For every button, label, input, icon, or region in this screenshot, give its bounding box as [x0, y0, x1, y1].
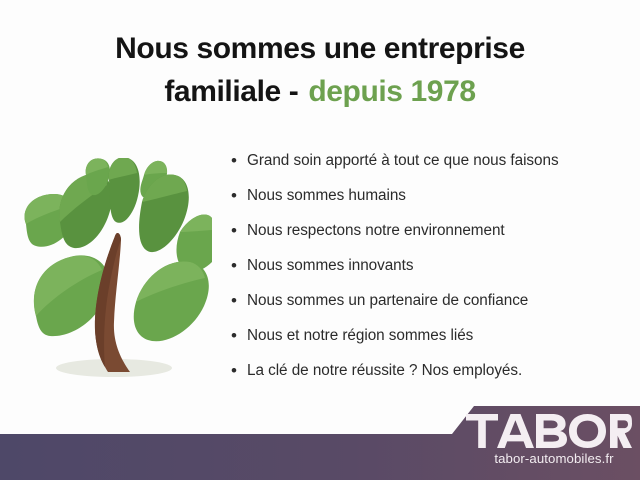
value-proposition-list: • Grand soin apporté à tout ce que nous …: [231, 148, 631, 393]
logo-wordmark-tabor: [466, 414, 632, 448]
list-item: • Nous sommes un partenaire de confiance: [231, 288, 631, 323]
leaf-lower-right: [134, 261, 209, 341]
bullet-marker: •: [231, 218, 247, 244]
bullet-text: Nous sommes humains: [247, 183, 631, 209]
bullet-marker: •: [231, 323, 247, 349]
tree-trunk: [95, 233, 130, 372]
bullet-text: La clé de notre réussite ? Nos employés.: [247, 358, 631, 384]
logo-letter-o: [569, 414, 606, 448]
leaf-top-center: [109, 158, 140, 223]
bullet-text: Nous sommes innovants: [247, 253, 631, 279]
logo-url-text[interactable]: tabor-automobiles.fr: [476, 451, 632, 466]
logo-letter-r: [610, 414, 632, 448]
bullet-marker: •: [231, 148, 247, 174]
bullet-text: Nous sommes un partenaire de confiance: [247, 288, 631, 314]
bullet-marker: •: [231, 288, 247, 314]
headline-line-2-accent: depuis 1978: [308, 75, 475, 108]
bullet-text: Nous respectons notre environnement: [247, 218, 631, 244]
bullet-marker: •: [231, 183, 247, 209]
bullet-marker: •: [231, 358, 247, 384]
list-item: • Nous sommes innovants: [231, 253, 631, 288]
list-item: • Nous et notre région sommes liés: [231, 323, 631, 358]
brand-logo[interactable]: tabor-automobiles.fr: [466, 414, 640, 476]
logo-letter-t: [466, 414, 498, 448]
logo-letter-b: [536, 414, 567, 448]
list-item: • Grand soin apporté à tout ce que nous …: [231, 148, 631, 183]
bullet-text: Grand soin apporté à tout ce que nous fa…: [247, 148, 631, 174]
headline-line-1: Nous sommes une entreprise: [0, 28, 640, 71]
logo-letter-a: [497, 414, 534, 448]
list-item: • La clé de notre réussite ? Nos employé…: [231, 358, 631, 393]
list-item: • Nous respectons notre environnement: [231, 218, 631, 253]
list-item: • Nous sommes humains: [231, 183, 631, 218]
bullet-marker: •: [231, 253, 247, 279]
tree-illustration: [8, 158, 212, 386]
headline-line-2-black: familiale -: [164, 75, 298, 108]
headline-line-2: familiale -depuis 1978: [0, 71, 640, 114]
bullet-text: Nous et notre région sommes liés: [247, 323, 631, 349]
page-title: Nous sommes une entreprise familiale -de…: [0, 28, 640, 113]
slide-canvas: Nous sommes une entreprise familiale -de…: [0, 0, 640, 480]
